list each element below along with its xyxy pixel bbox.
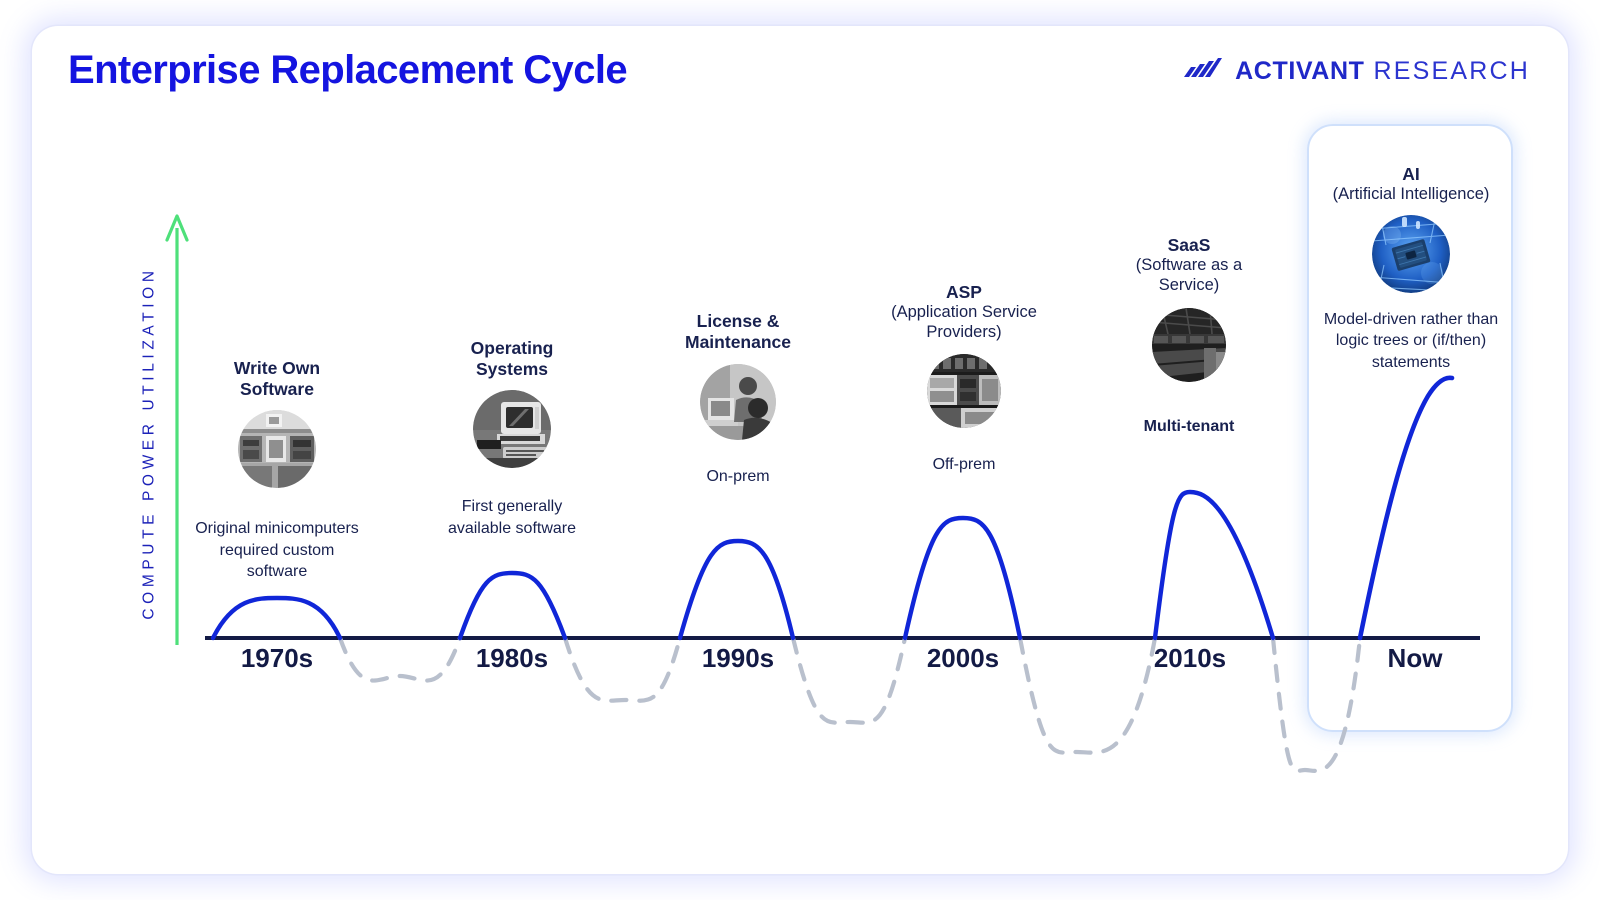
milestone-operating-systems: Operating Systems (422, 338, 602, 539)
milestone-asp: ASP (Application Service Providers) (873, 282, 1055, 475)
milestone-ai: AI (Artificial Intelligence) (1322, 164, 1500, 374)
office-workers-at-terminal-photo (700, 364, 776, 440)
vintage-desktop-computer-photo (473, 390, 551, 468)
adoption-curve-now (1360, 378, 1452, 638)
milestone-heading: Operating Systems (471, 338, 554, 380)
milestone-heading: ASP (Application Service Providers) (876, 282, 1052, 343)
tick-label-1980s: 1980s (432, 643, 592, 674)
adoption-curve-1970s (213, 598, 340, 638)
milestone-note: On-prem (706, 466, 769, 488)
vintage-mainframe-room-photo (238, 410, 316, 488)
datacenter-hall-photo (1152, 308, 1226, 382)
milestone-saas: SaaS (Software as a Service) (1110, 235, 1268, 437)
server-racks-photo (927, 354, 1001, 428)
adoption-curve-1980s (460, 573, 565, 638)
milestone-heading: AI (Artificial Intelligence) (1333, 164, 1490, 205)
milestone-note: First generally available software (437, 496, 587, 539)
milestone-heading: Write Own Software (234, 358, 320, 400)
milestone-note: Multi-tenant (1144, 416, 1235, 438)
milestone-note: Original minicomputers required custom s… (195, 518, 360, 583)
milestone-heading: SaaS (Software as a Service) (1129, 235, 1249, 296)
adoption-curve-2000s (905, 518, 1020, 638)
tick-label-now: Now (1335, 643, 1495, 674)
tick-label-1990s: 1990s (658, 643, 818, 674)
y-axis-arrow-icon (167, 216, 187, 645)
tick-label-1970s: 1970s (197, 643, 357, 674)
ai-chip-circuit-photo (1372, 215, 1450, 293)
tick-label-2000s: 2000s (883, 643, 1043, 674)
milestone-write-own-software: Write Own Software (187, 358, 367, 583)
milestone-heading: License & Maintenance (685, 311, 791, 353)
milestone-license-maintenance: License & Maintenance (648, 311, 828, 488)
infographic-stage: Enterprise Replacement Cycle ACTIVANT RE… (0, 0, 1600, 900)
milestone-note: Off-prem (933, 454, 996, 476)
adoption-curve-2010s (1155, 492, 1273, 638)
milestone-note: Model-driven rather than logic trees or … (1323, 309, 1499, 374)
adoption-curve-1990s (680, 541, 793, 638)
tick-label-2010s: 2010s (1110, 643, 1270, 674)
